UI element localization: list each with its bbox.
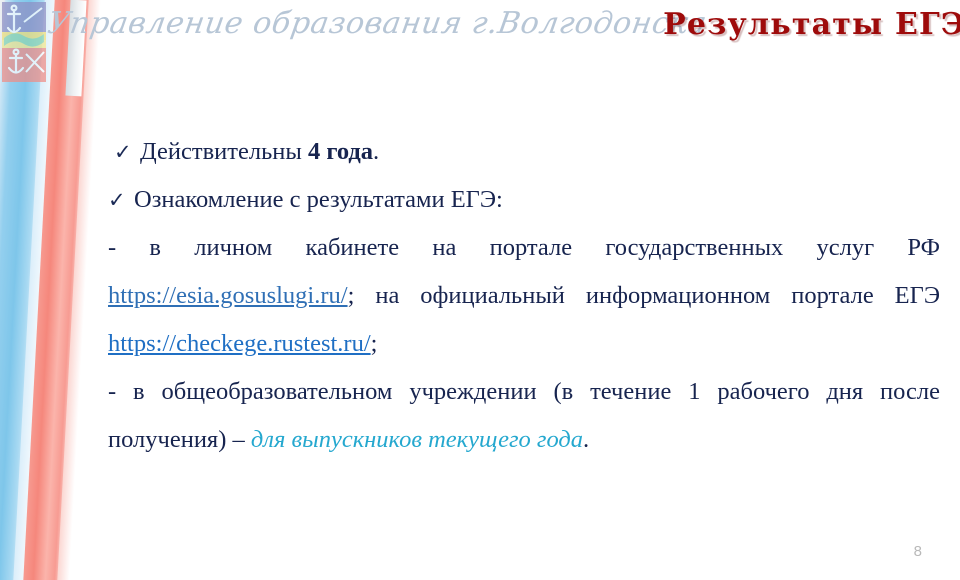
dash-marker: - [108, 378, 116, 405]
page-number: 8 [914, 543, 922, 560]
bullet-text-validity: Действительны 4 года. [140, 128, 379, 176]
ribbon-stripe-blue-light [10, 0, 66, 580]
graduates-note: для выпускников текущего года [251, 426, 583, 453]
validity-duration: 4 года [308, 138, 373, 165]
school-access-part2: . [583, 426, 589, 453]
slide-title: Результаты ЕГЭ [663, 7, 960, 42]
gosuslugi-link[interactable]: https://esia.gosuslugi.ru/ [108, 282, 348, 309]
ribbon-stripe-blue [0, 0, 54, 580]
checkmark-icon: ✓ [108, 176, 134, 224]
decorative-ribbon [0, 0, 120, 580]
paragraph-online-access: - в личном кабинете на портале государст… [108, 224, 940, 368]
online-access-part3: ; [371, 330, 378, 357]
ribbon-stripe-white [0, 0, 20, 580]
online-access-part1: в личном кабинете на портале государстве… [116, 234, 940, 261]
slide-body: ✓ Действительны 4 года. ✓ Ознакомление с… [108, 128, 940, 464]
bullet-item-validity: ✓ Действительны 4 года. [108, 128, 940, 176]
coat-of-arms-icon [2, 2, 46, 82]
organization-watermark: Управление образования г.Волгодонска [45, 6, 709, 41]
online-access-part2: ; на официальный информационном портале … [348, 282, 940, 309]
bullet-item-access: ✓ Ознакомление с результатами ЕГЭ: [108, 176, 940, 224]
bullet-text-access: Ознакомление с результатами ЕГЭ: [134, 176, 503, 224]
presentation-slide: Управление образования г.Волгодонска Рез… [0, 0, 960, 580]
validity-text-after: . [373, 138, 379, 165]
checkege-link[interactable]: https://checkege.rustest.ru/ [108, 330, 371, 357]
validity-text-before: Действительны [140, 138, 308, 165]
ribbon-stripe-red-edge [54, 0, 104, 580]
dash-marker: - [108, 234, 116, 261]
paragraph-school-access: - в общеобразовательном учреждении (в те… [108, 368, 940, 464]
checkmark-icon: ✓ [114, 128, 140, 176]
ribbon-stripe-red [20, 0, 98, 580]
